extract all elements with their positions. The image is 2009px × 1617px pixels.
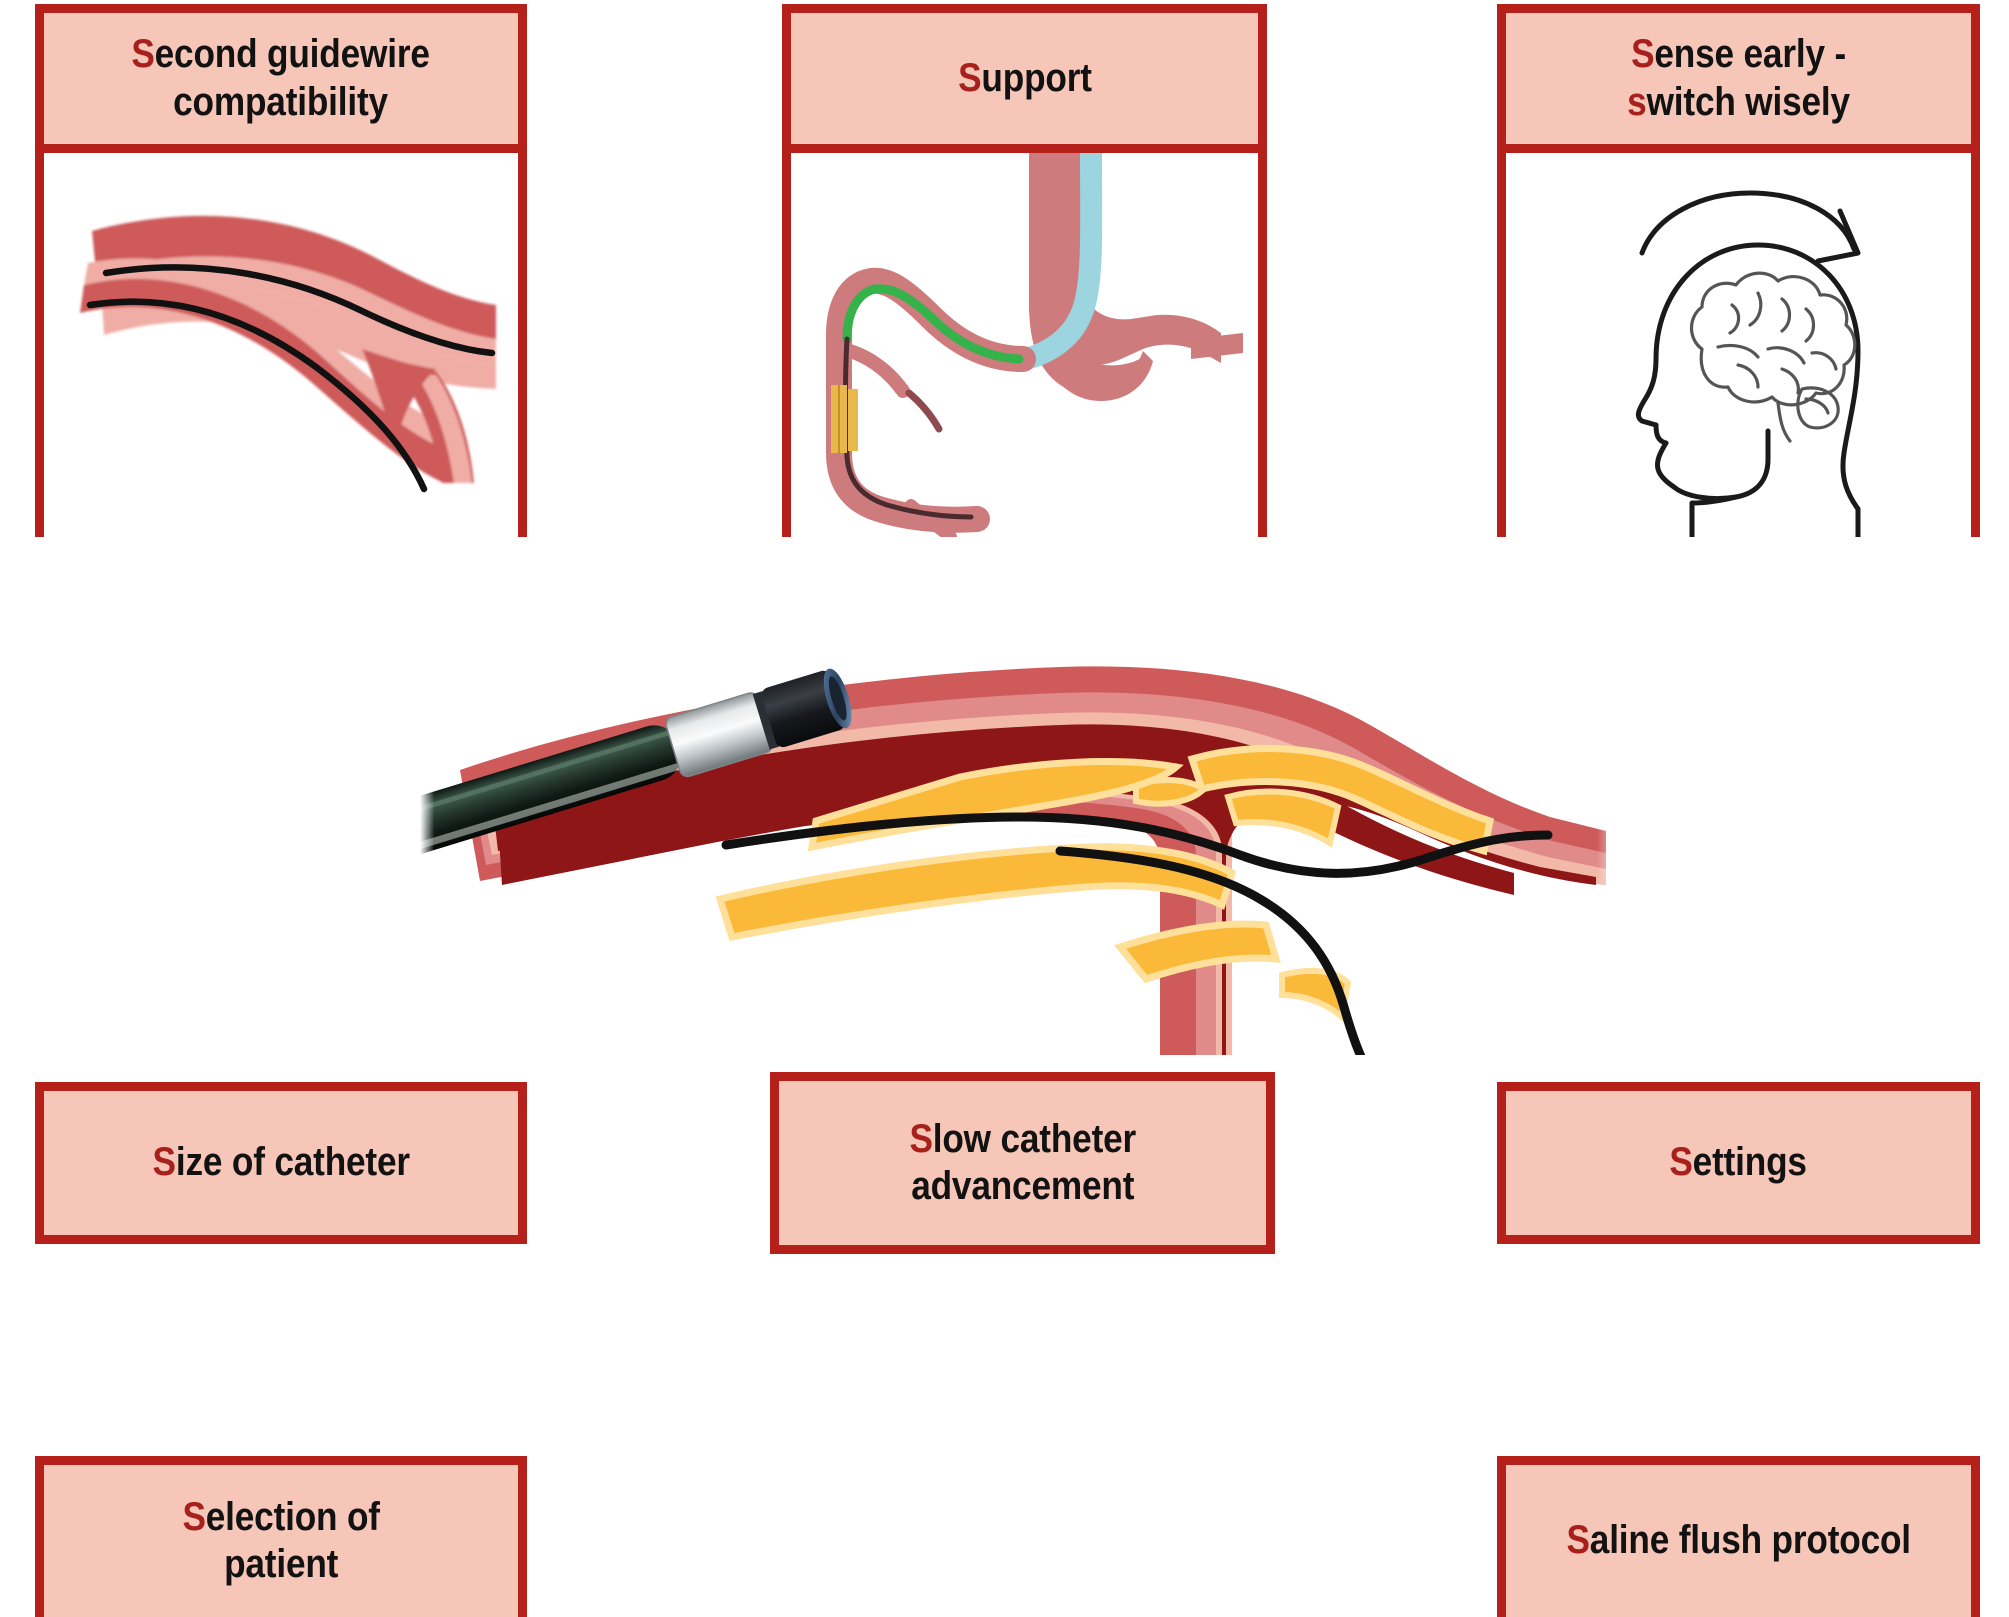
accent-letter-s: S xyxy=(1631,32,1654,76)
head-brain-rotation-arrow-icon xyxy=(1506,153,1971,537)
label-rest: election of xyxy=(206,1495,380,1539)
card-sense-early-switch-wisely: Sense early -switch wisely xyxy=(1497,4,1980,537)
label-line2: patient xyxy=(224,1542,338,1586)
accent-letter-s: S xyxy=(1566,1518,1589,1562)
figure-canvas: Second guidewirecompatibility xyxy=(0,0,2009,1617)
card-sense-title: Sense early -switch wisely xyxy=(1618,31,1858,125)
accent-letter-s-2: s xyxy=(1627,80,1646,124)
card-sense-header: Sense early -switch wisely xyxy=(1506,13,1971,153)
accent-letter-s: S xyxy=(1670,1140,1693,1184)
card-second-guidewire-compatibility: Second guidewirecompatibility xyxy=(35,4,527,537)
label-size-of-catheter-text: Size of catheter xyxy=(144,1139,419,1186)
card-support: Support xyxy=(782,4,1267,537)
label-rest: low catheter xyxy=(933,1117,1136,1161)
title-line-2: witch wisely xyxy=(1647,80,1850,124)
accent-letter-s: S xyxy=(132,32,155,76)
accent-letter-s: S xyxy=(152,1140,175,1184)
card-second-guidewire-header: Second guidewirecompatibility xyxy=(44,13,518,153)
label-slow-catheter-advancement: Slow catheteradvancement xyxy=(770,1072,1275,1254)
label-rest: ettings xyxy=(1693,1140,1807,1184)
label-rest: aline flush protocol xyxy=(1590,1518,1911,1562)
label-settings: Settings xyxy=(1497,1082,1980,1244)
title-line-1: ense early - xyxy=(1654,32,1846,76)
card-second-guidewire-title: Second guidewirecompatibility xyxy=(123,31,439,125)
label-selection-of-patient: Selection ofpatient xyxy=(35,1456,527,1617)
card-support-illustration xyxy=(791,153,1258,537)
bifurcating-vessel-two-guidewires-icon xyxy=(44,153,518,537)
title-line-2: compatibility xyxy=(174,80,389,124)
accent-letter-s: S xyxy=(958,56,981,100)
title-line-1: econd guidewire xyxy=(155,32,430,76)
label-line2: advancement xyxy=(911,1164,1134,1208)
label-size-of-catheter: Size of catheter xyxy=(35,1082,527,1244)
label-settings-text: Settings xyxy=(1661,1139,1816,1186)
label-saline-flush-protocol-text: Saline flush protocol xyxy=(1557,1517,1919,1564)
hero-atherectomy-illustration xyxy=(420,555,1630,1055)
aortic-arch-guide-catheter-stent-icon xyxy=(791,153,1258,537)
accent-letter-s: S xyxy=(909,1117,932,1161)
card-second-guidewire-illustration xyxy=(44,153,518,537)
label-slow-catheter-advancement-text: Slow catheteradvancement xyxy=(900,1116,1144,1210)
card-support-title: Support xyxy=(949,55,1100,102)
card-support-header: Support xyxy=(791,13,1258,153)
card-sense-illustration xyxy=(1506,153,1971,537)
label-saline-flush-protocol: Saline flush protocol xyxy=(1497,1456,1980,1617)
title-line-1: upport xyxy=(981,56,1091,100)
label-selection-of-patient-text: Selection ofpatient xyxy=(174,1494,389,1588)
atherectomy-catheter-in-bifurcation-diagram xyxy=(420,555,1630,1055)
label-rest: ize of catheter xyxy=(176,1140,410,1184)
accent-letter-s: S xyxy=(182,1495,205,1539)
